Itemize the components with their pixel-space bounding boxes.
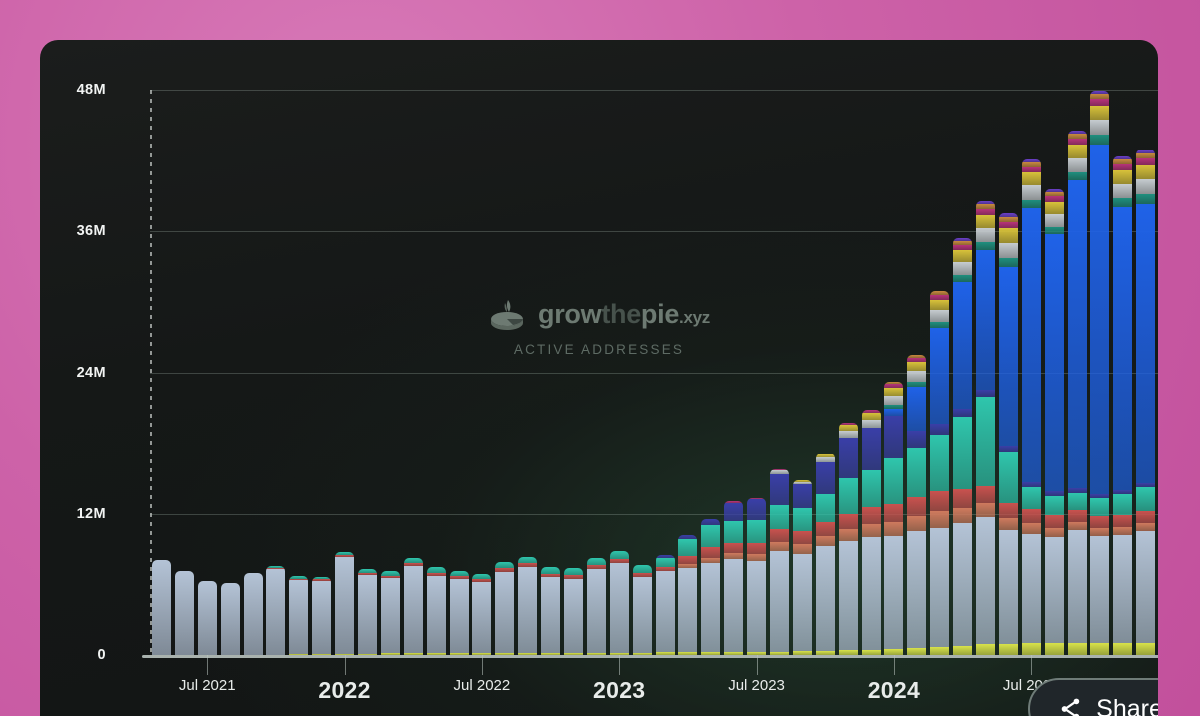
bar-segment	[1136, 487, 1155, 512]
bar-slot[interactable]	[150, 90, 173, 655]
stacked-bar[interactable]	[633, 565, 652, 655]
bar-segment	[976, 503, 995, 517]
bar-slot[interactable]	[768, 90, 791, 655]
bar-segment	[1113, 207, 1132, 490]
stacked-bar[interactable]	[884, 382, 903, 655]
stacked-bar[interactable]	[266, 566, 285, 655]
x-axis-label: 2023	[593, 677, 645, 704]
bar-segment	[976, 517, 995, 644]
bar-segment	[1068, 180, 1087, 488]
bar-slot[interactable]	[997, 90, 1020, 655]
bar-slot[interactable]	[493, 90, 516, 655]
bar-segment	[289, 580, 308, 654]
bar-segment	[976, 644, 995, 655]
bar-segment	[839, 514, 858, 529]
bar-segment	[1090, 536, 1109, 643]
bar-segment	[152, 560, 171, 655]
bar-slot[interactable]	[654, 90, 677, 655]
bar-segment	[1068, 510, 1087, 522]
bar-segment	[472, 582, 491, 653]
stacked-bar[interactable]	[381, 571, 400, 655]
bar-segment	[678, 568, 697, 653]
bar-segment	[1113, 184, 1132, 199]
bar-segment	[999, 503, 1018, 518]
bar-segment	[999, 518, 1018, 530]
bar-segment	[770, 529, 789, 542]
bar-segment	[656, 558, 675, 566]
bar-segment	[1068, 145, 1087, 158]
chart-card: 48M36M24M12M0 Jul 202120222023Jul 2022Ju…	[40, 40, 1158, 716]
share-label: Share	[1096, 695, 1158, 716]
bar-segment	[701, 547, 720, 558]
bar-segment	[701, 563, 720, 652]
bar-slot[interactable]	[883, 90, 906, 655]
stacked-bar[interactable]	[953, 238, 972, 655]
bar-segment	[747, 499, 766, 520]
x-axis-label: 2024	[868, 677, 920, 704]
bar-segment	[976, 242, 995, 250]
bar-segment	[1136, 204, 1155, 483]
bar-segment	[930, 328, 949, 425]
x-axis-tick	[619, 655, 620, 675]
bar-slot[interactable]	[814, 90, 837, 655]
stacked-bar[interactable]	[472, 574, 491, 655]
bar-segment	[266, 569, 285, 655]
bar-segment	[1113, 643, 1132, 655]
bar-segment	[953, 282, 972, 409]
bar-segment	[1022, 509, 1041, 523]
bar-segment	[1090, 120, 1109, 135]
bar-slot[interactable]	[905, 90, 928, 655]
bar-segment	[610, 551, 629, 559]
bar-slot[interactable]	[1066, 90, 1089, 655]
x-axis-tick	[345, 655, 346, 675]
bar-segment	[1136, 531, 1155, 643]
stacked-bar[interactable]	[1113, 156, 1132, 655]
bar-segment	[907, 371, 926, 382]
bar-segment	[1022, 200, 1041, 208]
bar-segment	[747, 543, 766, 555]
bar-segment	[999, 644, 1018, 655]
bar-segment	[633, 577, 652, 652]
stacked-bar[interactable]	[610, 551, 629, 655]
stacked-bar[interactable]	[1068, 131, 1087, 655]
bar-segment	[953, 523, 972, 645]
bar-segment	[816, 462, 835, 494]
bar-slot[interactable]	[860, 90, 883, 655]
bar-slot[interactable]	[1134, 90, 1157, 655]
bar-slot[interactable]	[539, 90, 562, 655]
bar-segment	[381, 578, 400, 653]
stacked-bar[interactable]	[358, 569, 377, 655]
bar-segment	[1045, 515, 1064, 528]
bar-segment	[1136, 179, 1155, 194]
stacked-bar[interactable]	[656, 555, 675, 655]
bar-segment	[1113, 198, 1132, 207]
bar-segment	[724, 559, 743, 652]
stacked-bar[interactable]	[289, 576, 308, 655]
bar-segment	[907, 448, 926, 497]
bar-segment	[747, 520, 766, 542]
bar-segment	[770, 474, 789, 505]
bar-segment	[884, 536, 903, 649]
x-axis-tick	[1031, 655, 1032, 675]
stacked-bar[interactable]	[724, 501, 743, 655]
bar-series-container	[150, 90, 1158, 655]
bar-segment	[1090, 528, 1109, 536]
bar-segment	[862, 420, 881, 428]
bar-segment	[450, 579, 469, 653]
stacked-bar[interactable]	[427, 567, 446, 655]
bar-segment	[747, 554, 766, 561]
bar-segment	[541, 577, 560, 652]
bar-segment	[724, 543, 743, 554]
bar-segment	[724, 503, 743, 522]
bar-segment	[587, 558, 606, 565]
bar-slot[interactable]	[516, 90, 539, 655]
bar-segment	[1090, 516, 1109, 528]
bar-segment	[1090, 498, 1109, 516]
stacked-bar[interactable]	[1045, 189, 1064, 655]
stacked-bar[interactable]	[678, 535, 697, 655]
bar-slot[interactable]	[699, 90, 722, 655]
bar-segment	[1022, 172, 1041, 185]
bar-segment	[884, 396, 903, 405]
bar-segment	[564, 579, 583, 653]
stacked-bar[interactable]	[312, 577, 331, 656]
bar-segment	[930, 310, 949, 322]
bar-segment	[999, 243, 1018, 258]
stacked-bar[interactable]	[747, 498, 766, 655]
bar-slot[interactable]	[1157, 90, 1158, 655]
stacked-bar[interactable]	[244, 573, 263, 655]
bar-segment	[1045, 528, 1064, 537]
bar-segment	[1090, 145, 1109, 495]
bar-segment	[1045, 537, 1064, 643]
bar-segment	[976, 486, 995, 504]
bar-slot[interactable]	[608, 90, 631, 655]
bar-slot[interactable]	[722, 90, 745, 655]
bar-segment	[678, 556, 697, 564]
x-axis: Jul 202120222023Jul 2022Jul 20232024Jul …	[150, 655, 1158, 715]
bar-segment	[976, 250, 995, 390]
bar-segment	[1022, 208, 1041, 482]
bar-segment	[564, 568, 583, 575]
bar-segment	[816, 536, 835, 547]
bar-segment	[862, 524, 881, 537]
bar-segment	[221, 583, 240, 655]
stacked-bar[interactable]	[518, 557, 537, 655]
y-axis-label: 0	[98, 647, 106, 663]
bar-segment	[1045, 496, 1064, 515]
bar-segment	[1022, 487, 1041, 509]
bar-segment	[976, 397, 995, 485]
x-axis-label: Jul 2022	[454, 677, 511, 694]
bar-segment	[816, 522, 835, 536]
bar-segment	[953, 275, 972, 282]
bar-segment	[930, 435, 949, 492]
bar-segment	[518, 567, 537, 653]
bar-segment	[907, 362, 926, 371]
plot-area	[150, 90, 1158, 655]
bar-segment	[1113, 494, 1132, 515]
bar-segment	[884, 504, 903, 522]
bar-segment	[999, 228, 1018, 242]
bar-segment	[930, 424, 949, 435]
bar-segment	[1045, 234, 1064, 492]
bar-segment	[1136, 194, 1155, 203]
bar-segment	[1045, 202, 1064, 214]
bar-segment	[907, 497, 926, 516]
bar-segment	[976, 228, 995, 242]
bar-segment	[999, 258, 1018, 267]
x-axis-tick	[482, 655, 483, 675]
bar-slot[interactable]	[951, 90, 974, 655]
stacked-bar[interactable]	[701, 519, 720, 655]
bar-segment	[633, 565, 652, 573]
stacked-bar[interactable]	[1090, 91, 1109, 655]
stacked-bar[interactable]	[335, 552, 354, 655]
bar-segment	[587, 569, 606, 653]
bar-slot[interactable]	[791, 90, 814, 655]
bar-segment	[198, 581, 217, 655]
bar-segment	[175, 571, 194, 655]
stacked-bar[interactable]	[930, 291, 949, 655]
stacked-bar[interactable]	[541, 567, 560, 655]
bar-segment	[884, 409, 903, 416]
stacked-bar[interactable]	[152, 560, 171, 655]
x-axis-tick	[894, 655, 895, 675]
bar-segment	[244, 573, 263, 655]
bar-segment	[953, 417, 972, 489]
x-axis-label: Jul 2021	[179, 677, 236, 694]
x-axis-label: Jul 2023	[728, 677, 785, 694]
bar-segment	[1068, 530, 1087, 643]
x-axis-tick	[207, 655, 208, 675]
bar-slot[interactable]	[676, 90, 699, 655]
bar-segment	[793, 484, 812, 508]
bar-slot[interactable]	[356, 90, 379, 655]
bar-segment	[1022, 534, 1041, 643]
bar-segment	[1022, 643, 1041, 655]
bar-slot[interactable]	[379, 90, 402, 655]
bar-segment	[495, 572, 514, 653]
bar-segment	[312, 581, 331, 654]
bar-slot[interactable]	[928, 90, 951, 655]
bar-segment	[976, 215, 995, 228]
bar-segment	[884, 458, 903, 504]
y-axis-label: 24M	[77, 365, 106, 381]
bar-segment	[770, 551, 789, 652]
bar-segment	[1113, 170, 1132, 184]
y-axis-label: 12M	[77, 506, 106, 522]
bar-segment	[884, 388, 903, 396]
bar-segment	[953, 262, 972, 275]
stacked-bar[interactable]	[564, 568, 583, 655]
stacked-bar[interactable]	[862, 410, 881, 655]
bar-segment	[839, 541, 858, 650]
bar-segment	[839, 529, 858, 541]
bar-segment	[1090, 106, 1109, 120]
bar-segment	[335, 557, 354, 654]
plot-start-marker	[150, 90, 152, 655]
bar-segment	[1022, 523, 1041, 534]
y-axis-label: 36M	[77, 223, 106, 239]
bar-segment	[427, 576, 446, 654]
bar-segment	[930, 491, 949, 511]
bar-segment	[1090, 135, 1109, 144]
bar-segment	[907, 648, 926, 655]
bar-segment	[1136, 511, 1155, 523]
bar-segment	[724, 521, 743, 542]
bar-segment	[907, 387, 926, 432]
bar-segment	[793, 531, 812, 544]
bar-segment	[358, 575, 377, 654]
bar-segment	[678, 539, 697, 555]
bar-segment	[1113, 515, 1132, 527]
bar-slot[interactable]	[242, 90, 265, 655]
bar-segment	[930, 528, 949, 647]
stacked-bar[interactable]	[770, 469, 789, 655]
bar-slot[interactable]	[287, 90, 310, 655]
bar-segment	[610, 563, 629, 652]
bar-segment	[999, 452, 1018, 503]
stacked-bar[interactable]	[404, 558, 423, 655]
bar-segment	[1045, 227, 1064, 234]
bar-segment	[793, 554, 812, 652]
stacked-bar[interactable]	[198, 581, 217, 655]
bar-slot[interactable]	[448, 90, 471, 655]
bar-segment	[1136, 523, 1155, 531]
bar-segment	[1068, 158, 1087, 172]
bar-slot[interactable]	[745, 90, 768, 655]
bar-segment	[884, 416, 903, 458]
bar-segment	[770, 542, 789, 550]
stacked-bar[interactable]	[175, 571, 194, 655]
y-axis-label: 48M	[77, 82, 106, 98]
bar-slot[interactable]	[631, 90, 654, 655]
bar-segment	[953, 646, 972, 655]
bar-segment	[701, 525, 720, 547]
stacked-bar[interactable]	[221, 583, 240, 655]
bar-segment	[907, 516, 926, 531]
bar-segment	[953, 409, 972, 417]
bar-slot[interactable]	[562, 90, 585, 655]
bar-segment	[907, 531, 926, 648]
bar-segment	[839, 438, 858, 478]
x-axis-label: 2022	[318, 677, 370, 704]
bar-slot[interactable]	[333, 90, 356, 655]
x-axis-tick	[757, 655, 758, 675]
bar-slot[interactable]	[1089, 90, 1112, 655]
bar-segment	[953, 489, 972, 508]
bar-segment	[1068, 522, 1087, 530]
bar-segment	[1068, 172, 1087, 180]
bar-slot[interactable]	[1111, 90, 1134, 655]
stacked-bar[interactable]	[793, 480, 812, 655]
bar-segment	[862, 428, 881, 469]
bar-segment	[976, 390, 995, 397]
bar-segment	[930, 511, 949, 527]
bar-segment	[1113, 527, 1132, 535]
bar-slot[interactable]	[974, 90, 997, 655]
bar-segment	[930, 300, 949, 311]
bar-slot[interactable]	[196, 90, 219, 655]
stacked-bar[interactable]	[816, 453, 835, 655]
bar-slot[interactable]	[470, 90, 493, 655]
bar-segment	[839, 431, 858, 438]
stacked-bar[interactable]	[976, 201, 995, 655]
bar-slot[interactable]	[173, 90, 196, 655]
bar-slot[interactable]	[1043, 90, 1066, 655]
bar-segment	[793, 508, 812, 532]
bar-segment	[747, 561, 766, 652]
stacked-bar[interactable]	[495, 562, 514, 655]
bar-segment	[1113, 535, 1132, 643]
bar-slot[interactable]	[1020, 90, 1043, 655]
bar-segment	[999, 530, 1018, 644]
bar-segment	[656, 571, 675, 652]
bar-slot[interactable]	[402, 90, 425, 655]
bar-segment	[862, 507, 881, 523]
bar-segment	[1045, 214, 1064, 227]
bar-slot[interactable]	[425, 90, 448, 655]
bar-segment	[1022, 185, 1041, 199]
bar-slot[interactable]	[585, 90, 608, 655]
bar-segment	[404, 566, 423, 653]
bar-slot[interactable]	[219, 90, 242, 655]
bar-segment	[1136, 165, 1155, 179]
bar-segment	[1136, 643, 1155, 655]
bar-segment	[953, 250, 972, 262]
bar-segment	[1090, 643, 1109, 655]
bar-segment	[770, 505, 789, 530]
bar-slot[interactable]	[264, 90, 287, 655]
bar-segment	[816, 546, 835, 651]
share-button[interactable]: Share	[1028, 678, 1158, 716]
bar-segment	[862, 413, 881, 420]
stacked-bar[interactable]	[907, 355, 926, 655]
bar-segment	[884, 522, 903, 536]
bar-segment	[862, 470, 881, 508]
bar-segment	[907, 431, 926, 447]
bar-segment	[862, 537, 881, 650]
bar-segment	[1068, 493, 1087, 511]
stacked-bar[interactable]	[1136, 149, 1155, 655]
stacked-bar[interactable]	[1022, 159, 1041, 655]
stacked-bar[interactable]	[450, 571, 469, 655]
bar-segment	[839, 478, 858, 513]
bar-segment	[930, 647, 949, 655]
stacked-bar[interactable]	[839, 423, 858, 655]
stacked-bar[interactable]	[999, 213, 1018, 655]
bar-segment	[1045, 643, 1064, 655]
bar-slot[interactable]	[310, 90, 333, 655]
bar-segment	[816, 494, 835, 522]
stacked-bar[interactable]	[587, 558, 606, 655]
bar-slot[interactable]	[837, 90, 860, 655]
bar-segment	[793, 544, 812, 553]
share-nodes-icon	[1058, 696, 1084, 716]
bar-segment	[1068, 643, 1087, 655]
bar-segment	[999, 267, 1018, 446]
bar-segment	[953, 508, 972, 523]
